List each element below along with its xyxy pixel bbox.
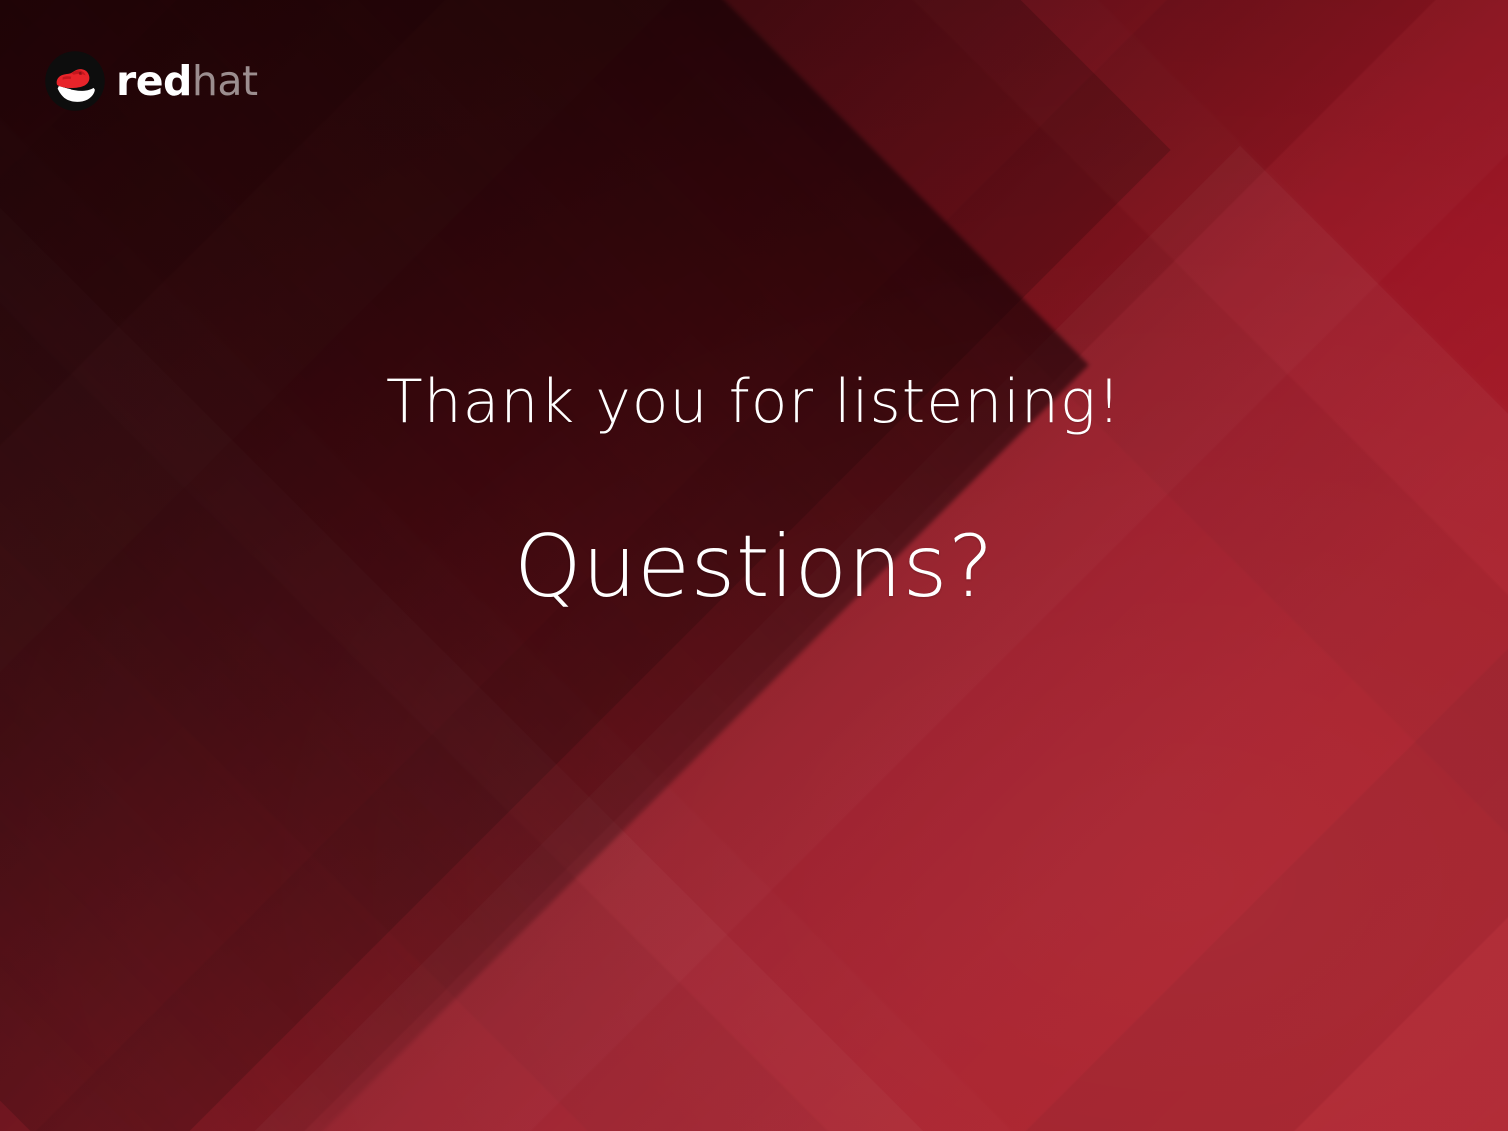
questions-heading: Questions? [0, 524, 1508, 610]
wordmark-red: red [116, 57, 192, 105]
slide-body: Thank you for listening! Questions? [0, 372, 1508, 610]
presentation-slide: redhat Thank you for listening! Question… [0, 0, 1508, 1131]
redhat-wordmark: redhat [116, 61, 258, 102]
thank-you-heading: Thank you for listening! [0, 372, 1508, 432]
wordmark-hat: hat [192, 57, 258, 105]
redhat-logo-lockup: redhat [44, 50, 258, 112]
redhat-shadowman-logo-icon [44, 50, 106, 112]
